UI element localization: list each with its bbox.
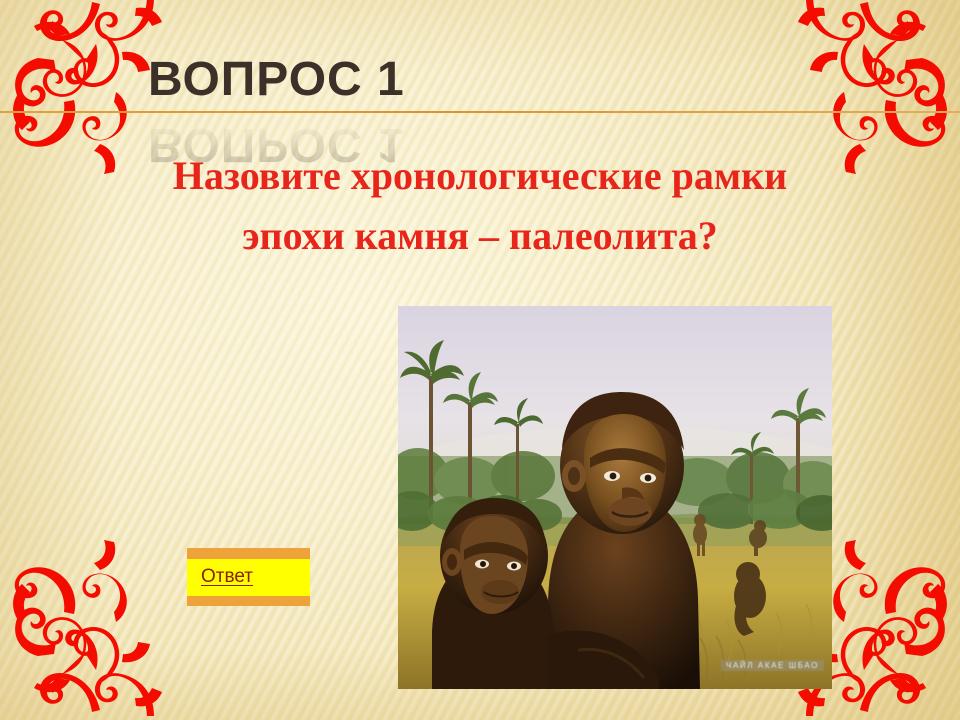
question-line-2: эпохи камня – палеолита? (60, 206, 900, 266)
answer-button-label: Ответ (201, 566, 253, 588)
answer-button-inner: Ответ (187, 559, 310, 596)
page-title: ВОПРОС 1 (148, 52, 405, 108)
question-line-1: Назовите хронологические рамки (60, 146, 900, 206)
title-divider-line (0, 111, 960, 113)
presentation-slide: ВОПРОС 1 ВОПРОС 1 Назовите хронологическ… (0, 0, 960, 720)
answer-button[interactable]: Ответ (187, 548, 310, 606)
question-text: Назовите хронологические рамки эпохи кам… (60, 146, 900, 266)
slide-title-block: ВОПРОС 1 ВОПРОС 1 (0, 52, 960, 116)
image-watermark: ЧАЙЛ АКАЕ ШБАО (721, 660, 824, 671)
illustration-image: ЧАЙЛ АКАЕ ШБАО (398, 306, 832, 689)
